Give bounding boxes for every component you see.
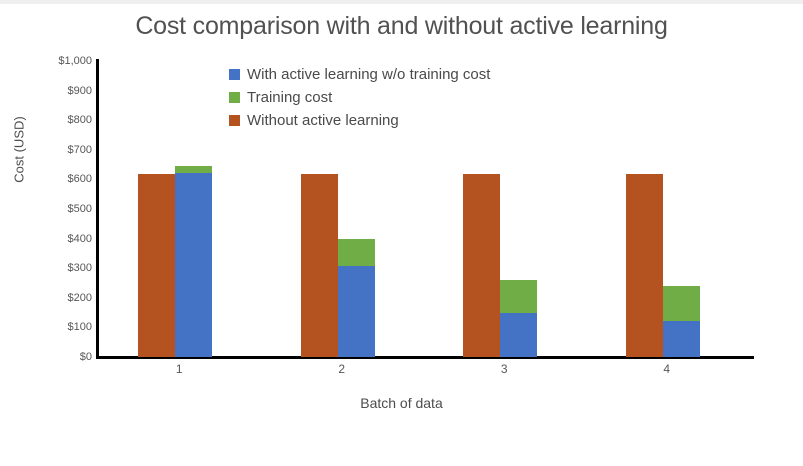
bar-training-cost xyxy=(500,280,537,313)
bar-chart: Cost comparison with and without active … xyxy=(0,0,803,466)
x-axis-tick-label: 4 xyxy=(627,362,707,376)
bar-without-active-learning xyxy=(138,174,175,357)
y-axis-tick-label: $200 xyxy=(36,292,92,304)
x-axis-tick-label: 2 xyxy=(302,362,382,376)
y-axis-tick-label: $700 xyxy=(36,144,92,156)
y-axis-tick-label: $400 xyxy=(36,233,92,245)
bar-without-active-learning xyxy=(463,174,500,357)
y-axis-tick-label: $0 xyxy=(36,351,92,363)
bar-with-active-learning xyxy=(500,313,537,357)
bar-without-active-learning xyxy=(626,174,663,357)
legend-swatch-icon xyxy=(229,69,240,80)
legend-swatch-icon xyxy=(229,115,240,126)
bar-training-cost xyxy=(175,166,212,173)
bar-with-active-learning xyxy=(338,266,375,357)
y-axis-tick-label: $900 xyxy=(36,85,92,97)
legend-item[interactable]: Without active learning xyxy=(229,109,609,132)
chart-title: Cost comparison with and without active … xyxy=(0,12,803,41)
bar-without-active-learning xyxy=(301,174,338,357)
bar-training-cost xyxy=(663,286,700,322)
legend-item[interactable]: With active learning w/o training cost xyxy=(229,63,609,86)
bar-training-cost xyxy=(338,239,375,267)
y-axis-tick-labels: $1,000$900$800$700$600$500$400$300$200$1… xyxy=(32,61,92,357)
y-axis-tick-label: $600 xyxy=(36,173,92,185)
x-axis-title: Batch of data xyxy=(0,395,803,411)
chart-legend: With active learning w/o training costTr… xyxy=(229,63,609,132)
legend-swatch-icon xyxy=(229,92,240,103)
y-axis-tick-label: $1,000 xyxy=(36,55,92,67)
legend-item-label: Training cost xyxy=(247,89,332,106)
y-axis-tick-label: $100 xyxy=(36,321,92,333)
x-axis-tick-labels: 1234 xyxy=(98,362,748,384)
bar-with-active-learning xyxy=(663,321,700,357)
y-axis-tick-label: $800 xyxy=(36,114,92,126)
legend-item[interactable]: Training cost xyxy=(229,86,609,109)
y-axis-title: Cost (USD) xyxy=(12,80,27,220)
bar-with-active-learning xyxy=(175,173,212,357)
y-axis-tick-label: $500 xyxy=(36,203,92,215)
legend-item-label: With active learning w/o training cost xyxy=(247,66,490,83)
x-axis-tick-label: 3 xyxy=(464,362,544,376)
legend-item-label: Without active learning xyxy=(247,112,399,129)
x-axis-tick-label: 1 xyxy=(139,362,219,376)
y-axis-tick-label: $300 xyxy=(36,262,92,274)
